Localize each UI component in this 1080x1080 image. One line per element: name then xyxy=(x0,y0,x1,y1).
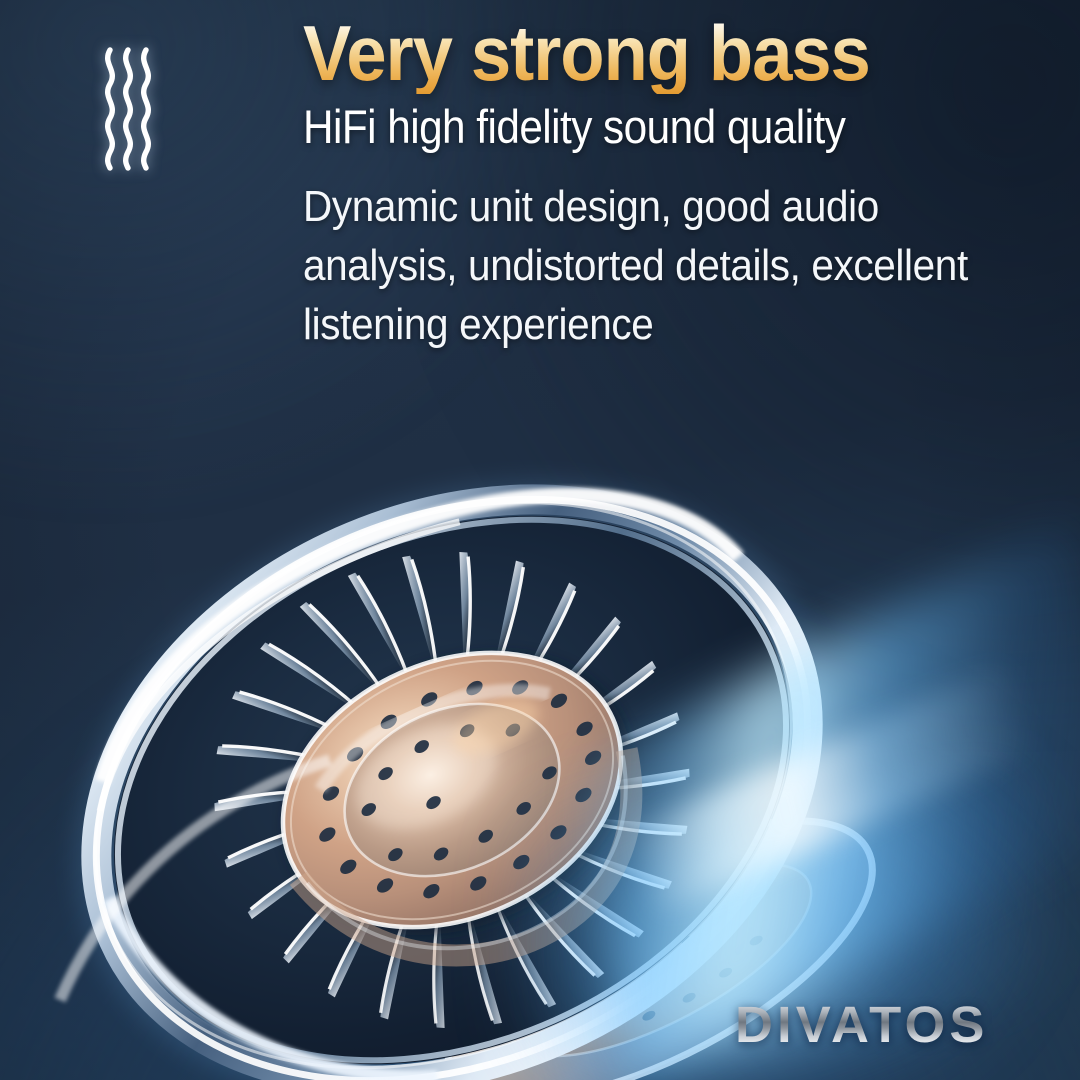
sound-wave-icon xyxy=(100,44,162,172)
headline: Very strong bass xyxy=(303,14,991,94)
body-paragraph: Dynamic unit design, good audio analysis… xyxy=(303,178,1039,355)
subtitle: HiFi high fidelity sound quality xyxy=(303,102,969,153)
brand-logo: DIVATOS xyxy=(735,995,989,1054)
product-banner-canvas: Very strong bass HiFi high fidelity soun… xyxy=(0,0,1080,1080)
copy-block: Very strong bass HiFi high fidelity soun… xyxy=(303,14,1043,355)
